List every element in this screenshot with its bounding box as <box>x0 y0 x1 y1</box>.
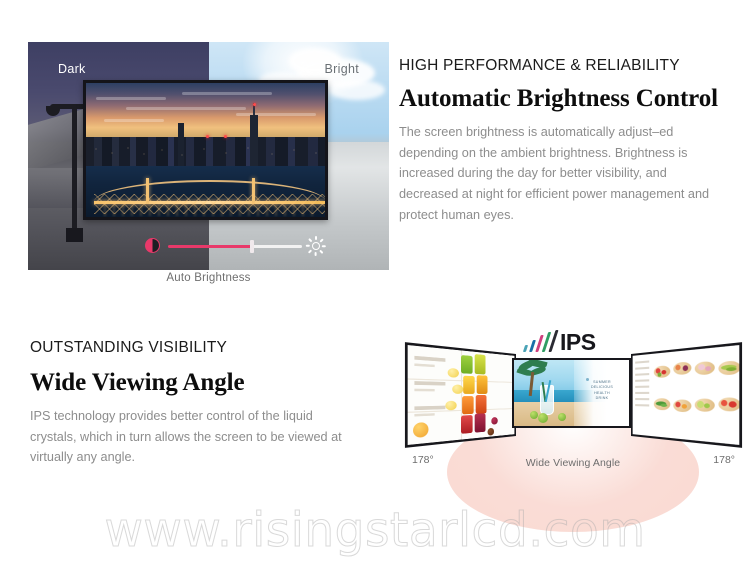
display-screen-preview <box>83 80 328 220</box>
screen-bridge <box>94 166 326 217</box>
promo-page: Dark Bright <box>0 0 750 580</box>
viewing-angle-caption: Wide Viewing Angle <box>447 457 699 469</box>
display-panel-middle: SUMMER DELICIOUS HEALTH DRINK <box>512 358 631 428</box>
screen-city-lights <box>86 145 325 164</box>
slider-track <box>252 245 302 248</box>
slider-handle[interactable] <box>250 240 254 253</box>
cloud-icon <box>329 80 385 100</box>
ips-logo: IPS <box>518 328 628 356</box>
section-two-body: IPS technology provides better control o… <box>30 406 360 468</box>
angle-label-left: 178° <box>412 454 434 466</box>
lamp-post <box>72 104 77 236</box>
menu-text-lines <box>635 360 649 410</box>
auto-brightness-illustration: Dark Bright <box>28 42 389 270</box>
section-two-eyebrow: OUTSTANDING VISIBILITY <box>30 338 360 358</box>
section-one-eyebrow: HIGH PERFORMANCE & RELIABILITY <box>399 56 729 76</box>
label-bright: Bright <box>325 62 359 76</box>
section-one-body: The screen brightness is automatically a… <box>399 122 729 225</box>
ips-logo-text: IPS <box>560 329 596 356</box>
display-panel-right <box>631 342 742 448</box>
section-one-headline: Automatic Brightness Control <box>399 85 729 113</box>
section-one-text: HIGH PERFORMANCE & RELIABILITY Automatic… <box>399 56 729 225</box>
sun-icon <box>307 237 325 255</box>
logo-stripe <box>523 345 529 352</box>
label-dark: Dark <box>58 62 86 76</box>
section-two-text: OUTSTANDING VISIBILITY Wide Viewing Angl… <box>30 338 360 468</box>
site-watermark: www.risingstarlcd.com <box>0 497 750 563</box>
slider-fill <box>168 245 252 248</box>
display-panel-left <box>405 342 516 448</box>
section-two-headline: Wide Viewing Angle <box>30 369 360 397</box>
auto-brightness-caption: Auto Brightness <box>28 272 389 284</box>
section-automatic-brightness: Dark Bright <box>0 0 750 300</box>
brightness-slider[interactable] <box>141 236 331 256</box>
contrast-icon <box>145 238 160 253</box>
lamp-post-base <box>66 228 83 242</box>
angle-label-right: 178° <box>713 454 735 466</box>
panel-middle-copy: SUMMER DELICIOUS HEALTH DRINK <box>581 380 623 402</box>
